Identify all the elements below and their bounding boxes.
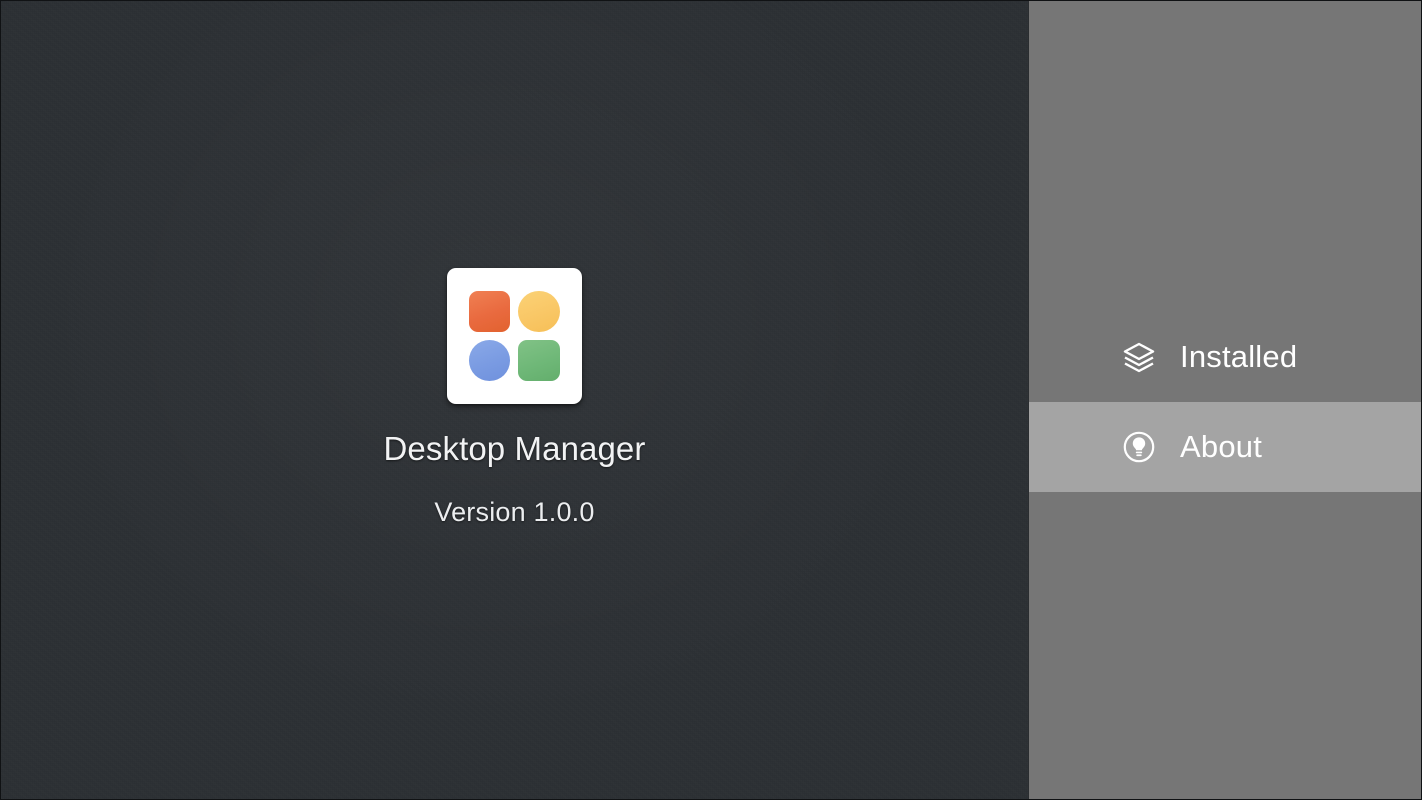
app-version-label: Version 1.0.0 <box>434 496 594 528</box>
blue-circle-tile <box>469 340 511 381</box>
about-content-pane: Desktop Manager Version 1.0.0 <box>1 1 1028 799</box>
yellow-circle-tile <box>518 291 560 332</box>
sidebar-item-about[interactable]: About <box>1029 402 1421 492</box>
desktop-manager-window: Desktop Manager Version 1.0.0 Installed <box>0 0 1422 800</box>
sidebar-item-label: Installed <box>1180 339 1297 375</box>
layers-icon <box>1122 340 1156 374</box>
green-square-tile <box>518 340 560 381</box>
about-block: Desktop Manager Version 1.0.0 <box>384 268 646 528</box>
orange-square-tile <box>469 291 511 332</box>
sidebar-item-installed[interactable]: Installed <box>1029 312 1421 402</box>
sidebar-item-label: About <box>1180 429 1262 465</box>
sidebar: Installed About <box>1028 1 1421 799</box>
lightbulb-icon <box>1122 430 1156 464</box>
app-icon <box>447 268 582 404</box>
page-title: Desktop Manager <box>384 429 646 469</box>
